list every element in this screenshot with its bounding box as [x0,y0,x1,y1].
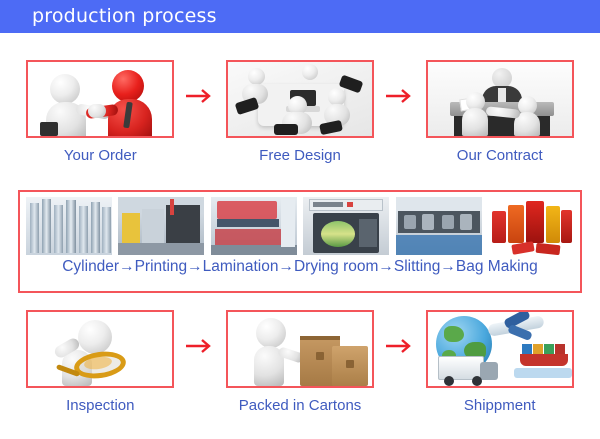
printing-press-photo [118,197,204,255]
production-process-infographic: production process [0,0,600,439]
arrow-right-icon [179,88,222,104]
step-label: Packed in Cartons [239,397,362,414]
lamination-machine-photo [211,197,297,255]
step-your-order[interactable]: Your Order [22,60,179,164]
gravure-cylinders-photo [26,197,112,255]
globe-plane-truck-ship-image [426,310,574,388]
production-stage-band: Cylinder→Printing→Lamination→Drying room… [18,190,582,293]
step-packed-in-cartons[interactable]: Packed in Cartons [222,310,379,414]
drying-room-photo [303,197,389,255]
bottom-step-row: Inspection [0,310,600,430]
contract-desk-signing-image [426,60,574,138]
step-inspection[interactable]: Inspection [22,310,179,414]
page-title: production process [32,5,217,27]
arrow-right-icon [378,338,421,354]
top-step-row: Your Order [0,60,600,175]
header-bar: production process [0,0,600,33]
design-meeting-table-image [226,60,374,138]
step-our-contract[interactable]: Our Contract [421,60,578,164]
magnifying-glass-inspection-image [26,310,174,388]
arrow-right-icon [378,88,421,104]
step-label: Shippment [464,397,536,414]
cartons-packing-image [226,310,374,388]
step-label: Inspection [66,397,134,414]
step-label: Our Contract [457,147,543,164]
slitting-machine-photo [396,197,482,255]
step-shipment[interactable]: Shippment [421,310,578,414]
stage-chain-caption: Cylinder→Printing→Lamination→Drying room… [20,258,580,276]
step-label: Free Design [259,147,341,164]
step-label: Your Order [64,147,137,164]
step-free-design[interactable]: Free Design [222,60,379,164]
finished-bags-photo [488,197,574,255]
handshake-3d-figures-image [26,60,174,138]
arrow-right-icon [179,338,222,354]
stage-thumbnail-strip [26,197,574,255]
